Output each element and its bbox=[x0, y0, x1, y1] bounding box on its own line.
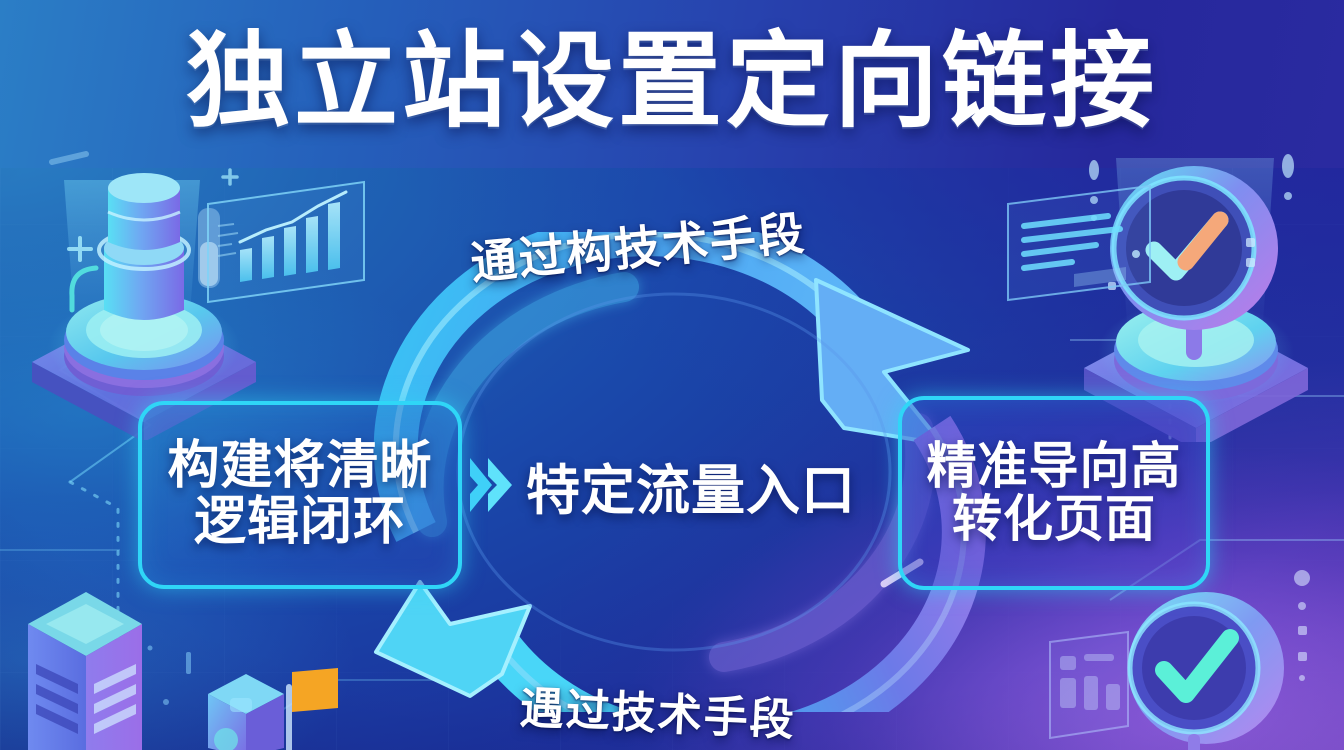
center-label-text: 特定流量入口 bbox=[526, 446, 856, 525]
double-chevron-right-icon bbox=[468, 454, 514, 516]
card-right[interactable]: 精准导向高 转化页面 bbox=[898, 396, 1210, 590]
card-left-line-2: 逻辑闭环 bbox=[194, 495, 406, 551]
bottom-arc-label: 遇过技术手段 bbox=[519, 672, 798, 748]
cube-flag-icon bbox=[208, 668, 338, 750]
center-label-block: 特定流量入口 bbox=[468, 444, 884, 526]
data-card-icon bbox=[1050, 632, 1128, 738]
card-right-line-2: 转化页面 bbox=[952, 493, 1156, 547]
bottom-arc-label-text: 遇过技术手段 bbox=[519, 672, 798, 748]
page-title: 独立站设置定向链接 bbox=[0, 6, 1344, 136]
card-right-line-1: 精准导向高 bbox=[927, 440, 1182, 494]
document-card-icon bbox=[1000, 182, 1160, 314]
infographic-canvas: 通过构技术手段 遇过技术手段 构建将清晰 逻辑闭环 特定流量入口 精准导向高 转… bbox=[0, 0, 1344, 750]
card-left[interactable]: 构建将清晰 逻辑闭环 bbox=[138, 401, 462, 589]
card-left-line-1: 构建将清晰 bbox=[167, 439, 432, 495]
